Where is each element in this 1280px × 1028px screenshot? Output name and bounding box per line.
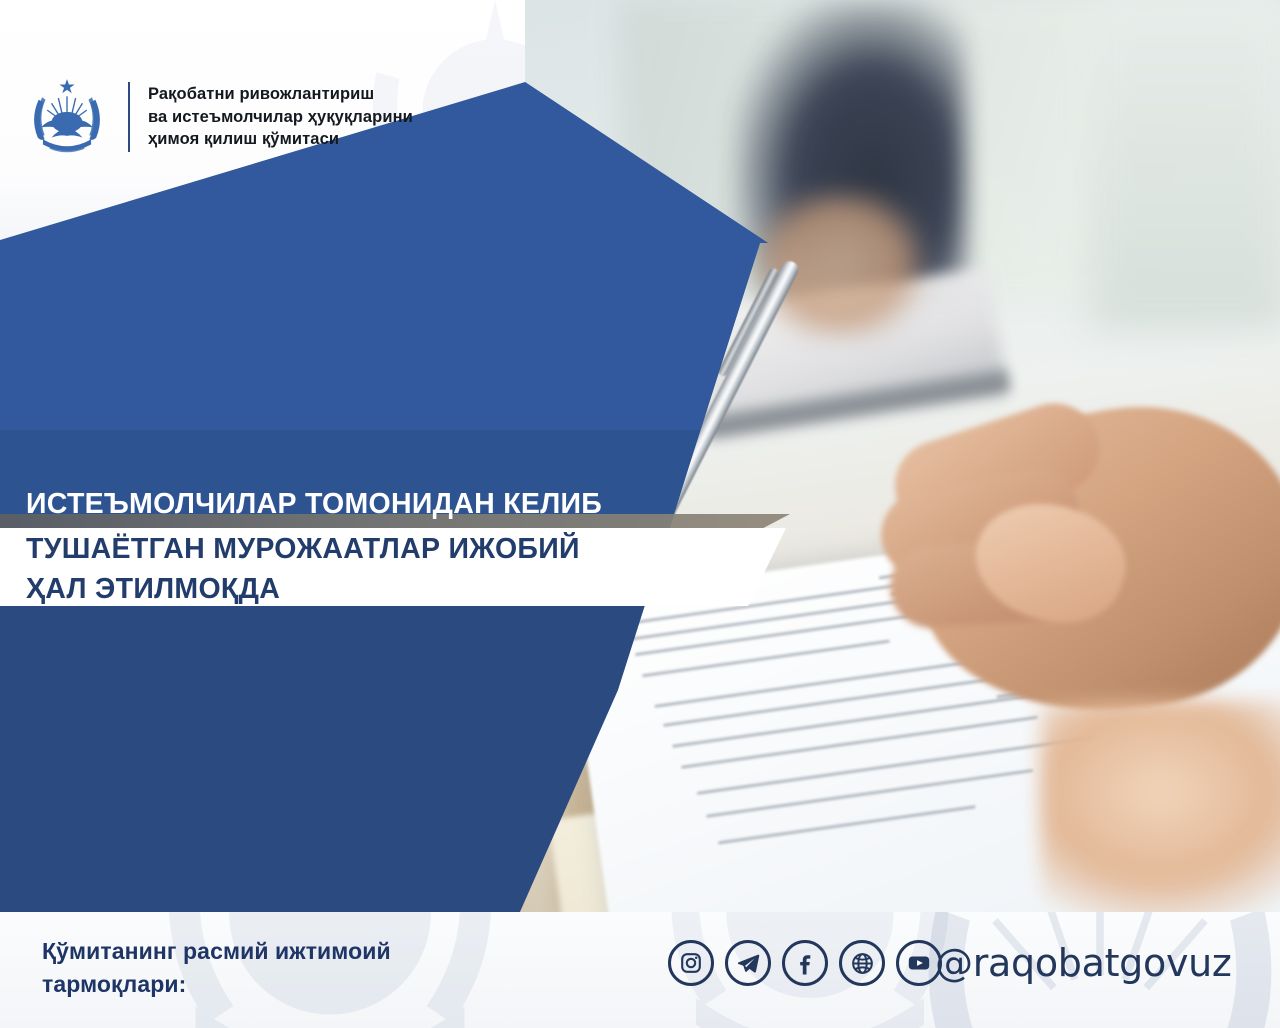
social-icon-row (668, 940, 942, 986)
headline-line-2: ТУШАЁТГАН МУРОЖААТЛАР ИЖОБИЙ (26, 529, 766, 569)
organization-line-3: ҳимоя қилиш қўмитаси (148, 128, 413, 151)
facebook-icon[interactable] (782, 940, 828, 986)
instagram-icon[interactable] (668, 940, 714, 986)
website-globe-icon[interactable] (839, 940, 885, 986)
header-branding: Рақобатни ривожлантириш ва истеъмолчилар… (24, 74, 413, 160)
uzbekistan-state-emblem-icon (24, 74, 110, 160)
headline-line-3: ҲАЛ ЭТИЛМОҚДА (26, 569, 766, 609)
social-label-line-2: тармоқлари: (42, 968, 512, 1001)
social-networks-label: Қўмитанинг расмий ижтимоий тармоқлари: (42, 935, 512, 1001)
organization-line-2: ва истеъмолчилар ҳуқуқларини (148, 106, 413, 129)
social-label-line-1: Қўмитанинг расмий ижтимоий (42, 935, 512, 968)
poster-canvas: Рақобатни ривожлантириш ва истеъмолчилар… (0, 0, 1280, 1028)
header-divider (128, 82, 130, 152)
headline-line-1: ИСТЕЪМОЛЧИЛАР ТОМОНИДАН КЕЛИБ (26, 484, 766, 524)
organization-name: Рақобатни ривожлантириш ва истеъмолчилар… (148, 83, 413, 151)
social-handle[interactable]: @raqobatgovuz (935, 941, 1232, 985)
headline: ИСТЕЪМОЛЧИЛАР ТОМОНИДАН КЕЛИБ ТУШАЁТГАН … (26, 484, 766, 609)
telegram-icon[interactable] (725, 940, 771, 986)
photo-hand-holding-pen (880, 330, 1280, 760)
organization-line-1: Рақобатни ривожлантириш (148, 83, 413, 106)
photo-window-blur (1090, 0, 1280, 330)
photo-second-hand (1040, 700, 1280, 912)
